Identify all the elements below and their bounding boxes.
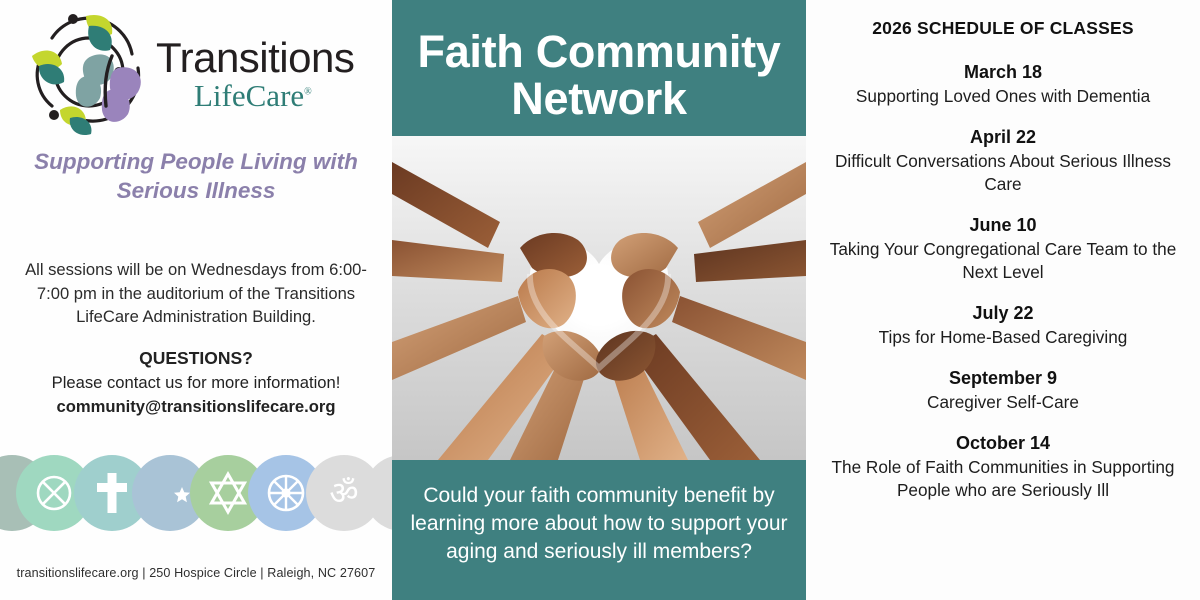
questions-line: Please contact us for more information! [12,371,380,395]
schedule-item: July 22 Tips for Home-Based Caregiving [820,302,1186,349]
hands-heart-photo [392,136,806,460]
brand-tagline: Supporting People Living with Serious Il… [8,148,384,206]
schedule-topic: Caregiver Self-Care [820,391,1186,414]
schedule-topic: Difficult Conversations About Serious Il… [820,150,1186,195]
hands-heart-illustration [392,136,806,460]
transitions-lifecare-logo: Transitions LifeCare® [26,8,366,138]
questions-heading: QUESTIONS? [12,346,380,371]
logo-subname: LifeCare® [194,80,354,113]
flyer-poster: Transitions LifeCare® Supporting People … [0,0,1200,600]
left-info-panel: Transitions LifeCare® Supporting People … [0,0,392,600]
logo-wordmark: Transitions LifeCare® [156,33,354,113]
faith-symbols-band: ॐ [0,455,392,533]
schedule-date: October 14 [820,432,1186,455]
contact-email: community@transitionslifecare.org [12,395,380,419]
program-subtitle: Could your faith community benefit by le… [392,460,806,600]
svg-text:ॐ: ॐ [329,474,358,512]
session-details-text: All sessions will be on Wednesdays from … [12,258,380,329]
schedule-item: March 18 Supporting Loved Ones with Deme… [820,61,1186,108]
questions-block: QUESTIONS? Please contact us for more in… [12,346,380,419]
registered-mark-icon: ® [304,87,312,98]
schedule-date: September 9 [820,367,1186,390]
schedule-date: March 18 [820,61,1186,84]
schedule-title: 2026 SCHEDULE OF CLASSES [820,18,1186,39]
schedule-topic: Tips for Home-Based Caregiving [820,326,1186,349]
schedule-panel: 2026 SCHEDULE OF CLASSES March 18 Suppor… [806,0,1200,600]
schedule-item: April 22 Difficult Conversations About S… [820,126,1186,196]
schedule-date: April 22 [820,126,1186,149]
schedule-topic: The Role of Faith Communities in Support… [820,456,1186,501]
schedule-list: March 18 Supporting Loved Ones with Deme… [820,61,1186,502]
schedule-date: July 22 [820,302,1186,325]
center-feature-panel: Faith Community Network [392,0,806,600]
logo-name: Transitions [156,37,354,79]
program-title: Faith Community Network [392,0,806,136]
schedule-item: October 14 The Role of Faith Communities… [820,432,1186,502]
schedule-date: June 10 [820,214,1186,237]
schedule-topic: Taking Your Congregational Care Team to … [820,238,1186,283]
schedule-item: June 10 Taking Your Congregational Care … [820,214,1186,284]
schedule-topic: Supporting Loved Ones with Dementia [820,85,1186,108]
schedule-item: September 9 Caregiver Self-Care [820,367,1186,414]
logo-circle-butterfly-icon [26,10,154,136]
footer-contact-line: transitionslifecare.org | 250 Hospice Ci… [0,566,392,580]
